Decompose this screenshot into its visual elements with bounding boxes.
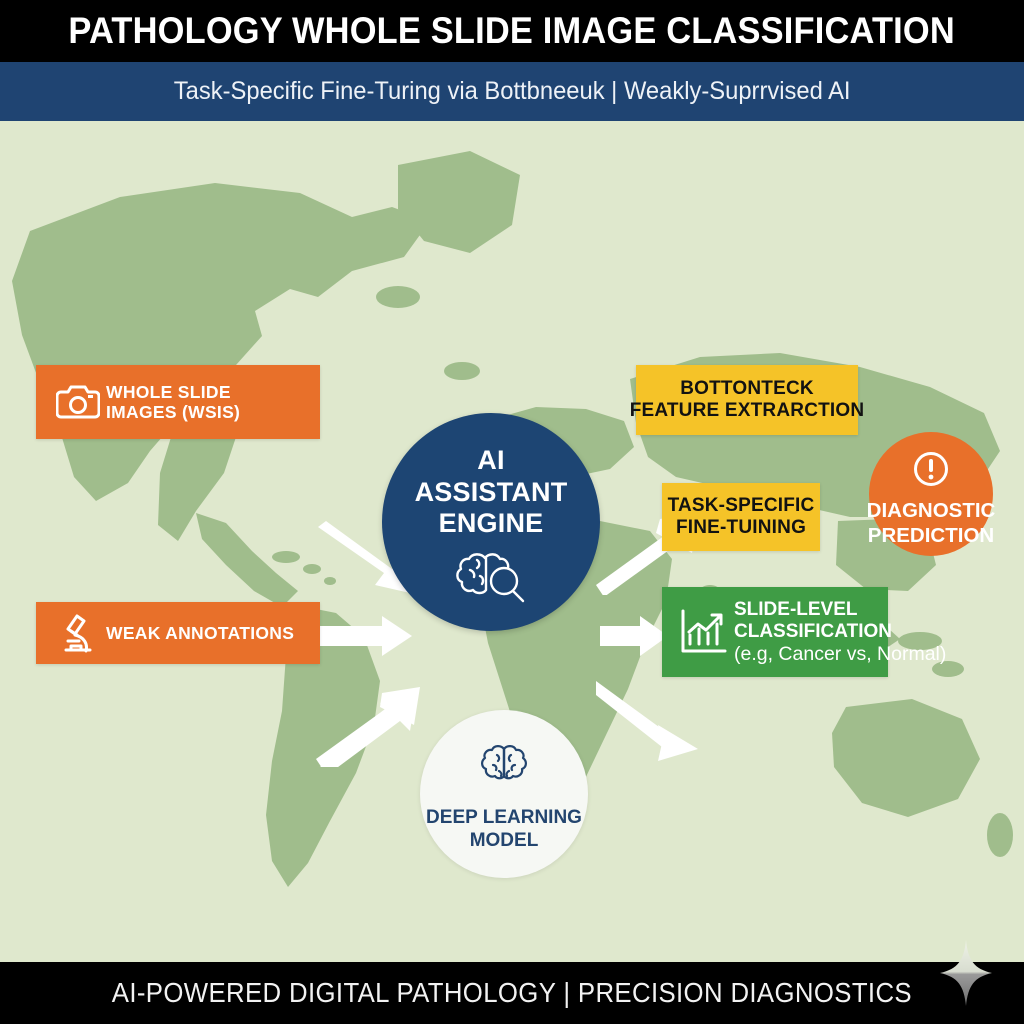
fine-tuning-line1: TASK-SPECIFIC <box>668 495 815 517</box>
sparkle-icon <box>938 938 994 1008</box>
bottleneck-label: BOTTONTECK FEATURE EXTRARCTION <box>630 378 865 422</box>
diagram-canvas: WHOLE SLIDE IMAGES (WSIS) WEAK <box>0 121 1024 962</box>
node-deep-learning-model[interactable]: DEEP LEARNING MODEL <box>420 710 588 878</box>
engine-line2: ASSISTANT <box>415 477 568 509</box>
microscope-icon <box>50 609 106 657</box>
brain-icon <box>478 742 530 797</box>
ai-assistant-engine-label: AI ASSISTANT ENGINE <box>415 445 568 540</box>
model-line2: MODEL <box>426 830 582 853</box>
whole-slide-images-label: WHOLE SLIDE IMAGES (WSIS) <box>106 382 240 423</box>
arrow-mid-to-engine <box>320 616 416 656</box>
diagnostic-prediction-label: DIAGNOSTIC PREDICTION <box>867 499 996 548</box>
node-bottleneck-feature-extraction[interactable]: BOTTONTECK FEATURE EXTRARCTION <box>636 365 858 435</box>
brain-magnifier-icon <box>454 548 528 609</box>
arrow-engine-to-classification <box>596 677 708 767</box>
footer-text: AI-POWERED DIGITAL PATHOLOGY | PRECISION… <box>112 977 912 1009</box>
exclamation-circle-icon <box>912 450 950 493</box>
node-weak-annotations[interactable]: WEAK ANNOTATIONS <box>36 602 320 664</box>
classification-line3: (e.g, Cancer vs, Normal) <box>734 643 946 666</box>
footer-bar: AI-POWERED DIGITAL PATHOLOGY | PRECISION… <box>0 962 1024 1024</box>
weak-annotations-label: WEAK ANNOTATIONS <box>106 623 294 643</box>
title-bar: PATHOLOGY WHOLE SLIDE IMAGE CLASSIFICATI… <box>0 0 1024 62</box>
engine-line3: ENGINE <box>415 508 568 540</box>
model-line1: DEEP LEARNING <box>426 807 582 830</box>
deep-learning-model-label: DEEP LEARNING MODEL <box>426 807 582 853</box>
fine-tuning-label: TASK-SPECIFIC FINE-TUINING <box>668 495 815 539</box>
wsi-line1: WHOLE SLIDE <box>106 382 240 402</box>
node-ai-assistant-engine[interactable]: AI ASSISTANT ENGINE <box>382 413 600 631</box>
bottleneck-line1: BOTTONTECK <box>630 378 865 400</box>
node-diagnostic-prediction[interactable]: DIAGNOSTIC PREDICTION <box>869 432 993 556</box>
prediction-line2: PREDICTION <box>867 524 996 549</box>
fine-tuning-line2: FINE-TUINING <box>668 517 815 539</box>
prediction-line1: DIAGNOSTIC <box>867 499 996 524</box>
classification-line1: SLIDE-LEVEL <box>734 599 946 621</box>
node-slide-level-classification[interactable]: SLIDE-LEVEL CLASSIFICATION (e.g, Cancer … <box>662 587 888 677</box>
classification-label: SLIDE-LEVEL CLASSIFICATION (e.g, Cancer … <box>734 599 946 666</box>
classification-line2: CLASSIFICATION <box>734 621 946 643</box>
node-whole-slide-images[interactable]: WHOLE SLIDE IMAGES (WSIS) <box>36 365 320 439</box>
infographic-poster: PATHOLOGY WHOLE SLIDE IMAGE CLASSIFICATI… <box>0 0 1024 1024</box>
arrow-annotations-to-engine <box>316 681 428 767</box>
engine-line1: AI <box>415 445 568 477</box>
arrow-engine-to-finetuning <box>600 616 670 656</box>
camera-icon <box>50 379 106 425</box>
page-subtitle: Task-Specific Fine-Turing via Bottbneeuk… <box>174 77 851 106</box>
bottleneck-line2: FEATURE EXTRARCTION <box>630 400 865 422</box>
page-title: PATHOLOGY WHOLE SLIDE IMAGE CLASSIFICATI… <box>69 10 956 52</box>
node-task-specific-fine-tuning[interactable]: TASK-SPECIFIC FINE-TUINING <box>662 483 820 551</box>
bar-chart-growth-icon <box>672 604 734 660</box>
wsi-line2: IMAGES (WSIS) <box>106 402 240 422</box>
subtitle-bar: Task-Specific Fine-Turing via Bottbneeuk… <box>0 62 1024 121</box>
